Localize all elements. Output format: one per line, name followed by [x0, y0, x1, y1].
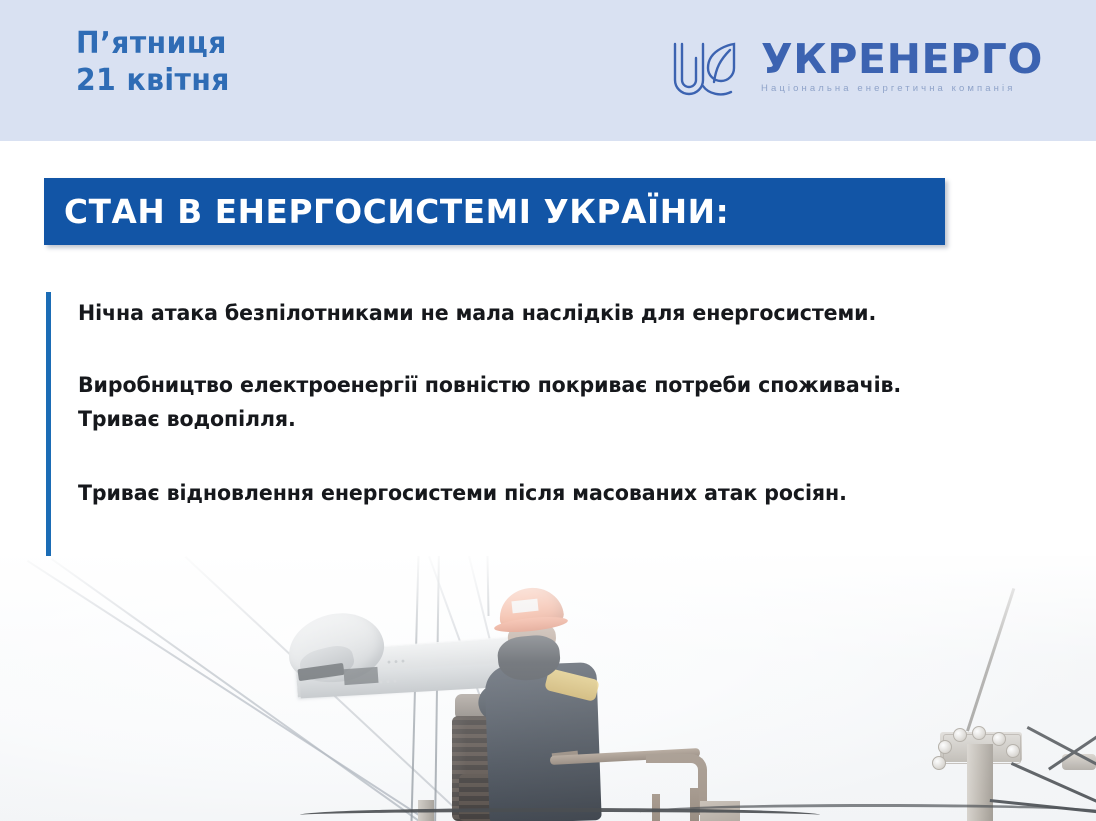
statement-paragraph-2b: Триває водопілля. — [78, 403, 995, 437]
date-weekday: П’ятниця — [76, 26, 230, 63]
statement-paragraph-1: Нічна атака безпілотниками не мала наслі… — [78, 297, 995, 331]
body-text-block: Нічна атака безпілотниками не мала наслі… — [78, 297, 1038, 511]
logo-wordmark: УКРЕНЕРГО — [761, 36, 1043, 82]
section-title-banner: СТАН В ЕНЕРГОСИСТЕМІ УКРАЇНИ: — [44, 178, 945, 245]
lineman-photo: ∙∙∙ ∙∙∙ — [0, 556, 1096, 821]
section-title-text: СТАН В ЕНЕРГОСИСТЕМІ УКРАЇНИ: — [64, 192, 729, 231]
statement-paragraph-3: Триває відновлення енергосистеми після м… — [78, 477, 995, 511]
date-block: П’ятниця 21 квітня — [76, 26, 240, 99]
left-accent-bar — [46, 292, 51, 558]
infographic-page: П’ятниця 21 квітня УКРЕНЕРГО Національна… — [0, 0, 1096, 821]
ukrenergo-u-leaf-logomark — [668, 38, 750, 104]
date-day-month: 21 квітня — [76, 63, 230, 100]
ukrenergo-logo: УКРЕНЕРГО Національна енергетична компан… — [668, 36, 1043, 104]
header-band: П’ятниця 21 квітня УКРЕНЕРГО Національна… — [0, 0, 1096, 141]
logo-tagline: Національна енергетична компанія — [761, 83, 1043, 95]
logo-text-block: УКРЕНЕРГО Національна енергетична компан… — [761, 36, 1043, 95]
statement-paragraph-2: Виробництво електроенергії повністю покр… — [78, 369, 995, 403]
photo-atmospheric-haze — [0, 556, 1096, 821]
